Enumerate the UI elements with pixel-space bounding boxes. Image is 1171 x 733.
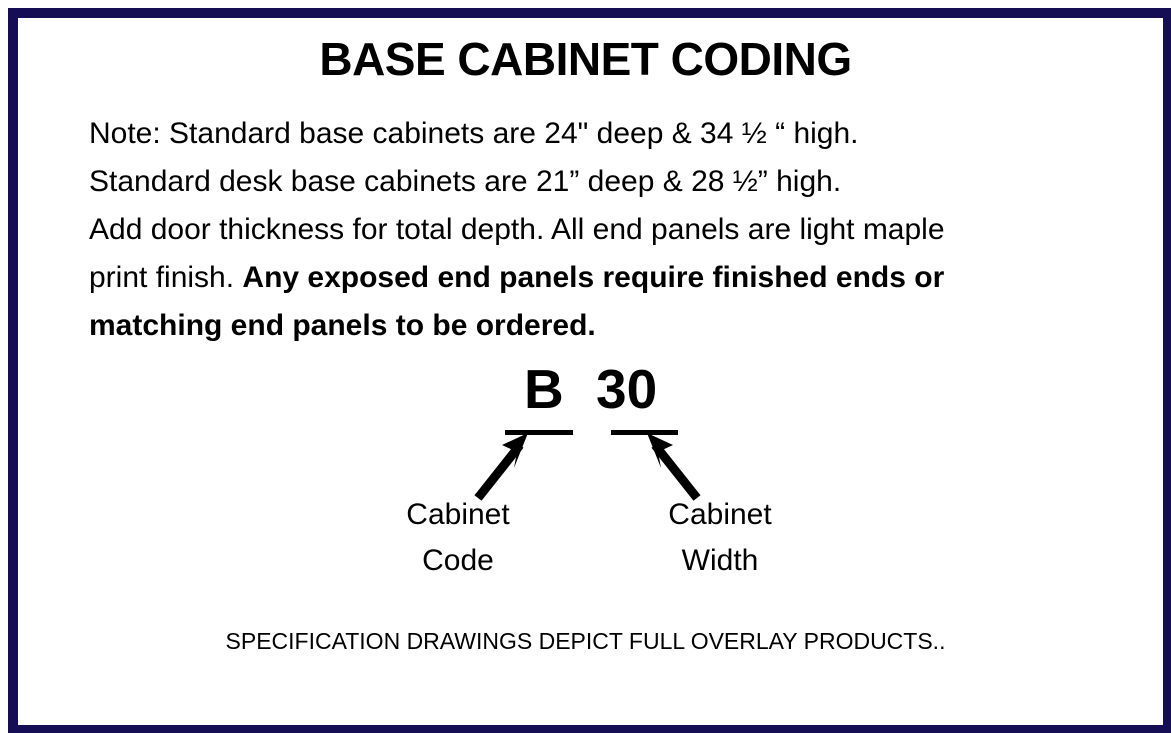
footer-disclaimer: SPECIFICATION DRAWINGS DEPICT FULL OVERL… <box>0 628 1171 656</box>
note-paragraph: Note: Standard base cabinets are 24" dee… <box>89 110 1089 350</box>
page-title: BASE CABINET CODING <box>0 36 1171 82</box>
note-line-4-normal: print finish. <box>89 261 242 294</box>
note-line-4: print finish. Any exposed end panels req… <box>89 254 1089 302</box>
note-line-5: matching end panels to be ordered. <box>89 302 1089 350</box>
note-line-4-bold: Any exposed end panels require finished … <box>242 261 944 294</box>
note-line-2: Standard desk base cabinets are 21” deep… <box>89 158 1089 206</box>
note-line-3: Add door thickness for total depth. All … <box>89 206 1089 254</box>
base-cabinet-coding-card: BASE CABINET CODING Note: Standard base … <box>0 0 1171 733</box>
note-line-1: Note: Standard base cabinets are 24" dee… <box>89 110 1089 158</box>
